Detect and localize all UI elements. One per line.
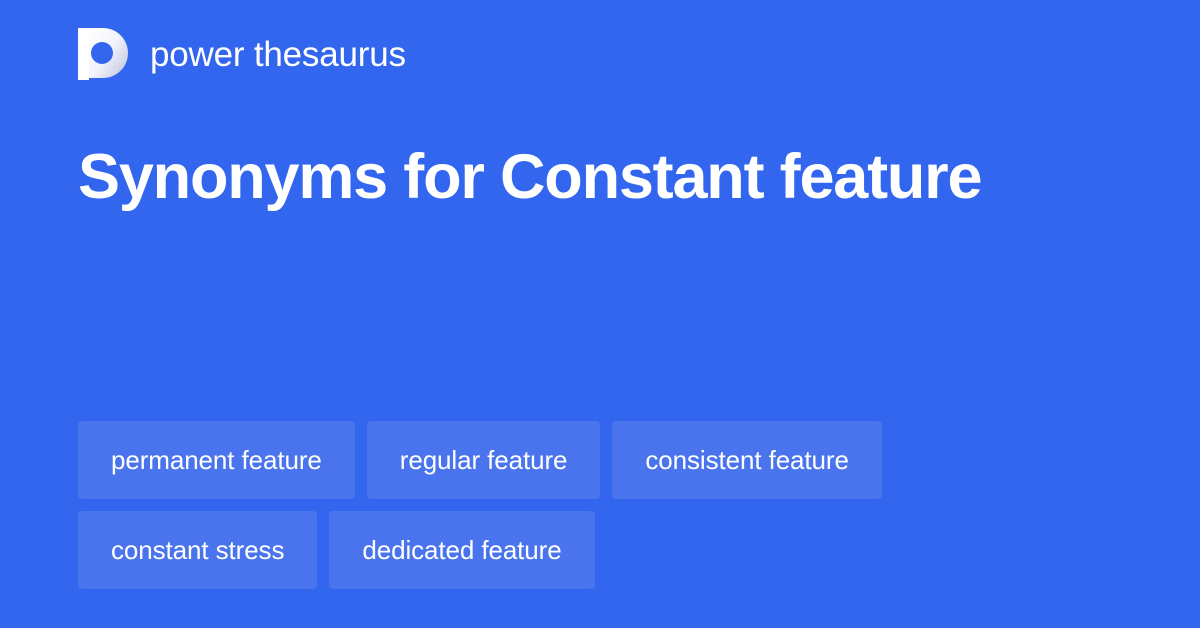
page-title: Synonyms for Constant feature: [78, 142, 1088, 214]
synonym-chip[interactable]: permanent feature: [78, 421, 355, 499]
synonym-chip[interactable]: constant stress: [78, 511, 317, 589]
brand-header[interactable]: power thesaurus: [78, 28, 406, 80]
brand-name: power thesaurus: [150, 37, 406, 72]
power-thesaurus-b-logo-icon: [78, 28, 128, 80]
open-graph-card: power thesaurus Synonyms for Constant fe…: [0, 0, 1200, 628]
synonym-chip[interactable]: consistent feature: [612, 421, 881, 499]
synonym-chip[interactable]: regular feature: [367, 421, 601, 499]
synonym-chip-list: permanent feature regular feature consis…: [78, 421, 1122, 589]
synonym-chip[interactable]: dedicated feature: [329, 511, 594, 589]
